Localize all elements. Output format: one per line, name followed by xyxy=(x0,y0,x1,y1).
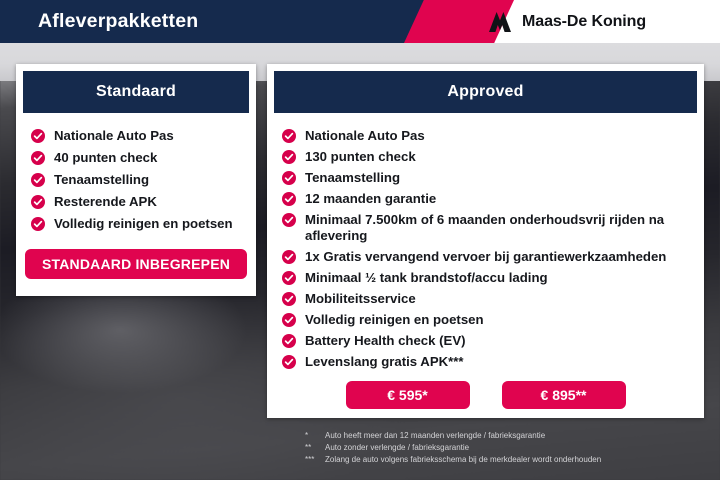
check-circle-icon xyxy=(282,150,296,164)
check-circle-icon xyxy=(31,129,45,143)
page-title: Afleverpakketten xyxy=(38,0,198,43)
maas-de-koning-m-logo-icon xyxy=(487,11,513,33)
list-item: Nationale Auto Pas xyxy=(31,128,246,144)
check-circle-icon xyxy=(31,217,45,231)
price-button-row: € 595* € 895** xyxy=(267,381,704,409)
footnote-marker: ** xyxy=(305,442,319,454)
list-item: Tenaamstelling xyxy=(31,172,246,188)
feature-label: 40 punten check xyxy=(54,150,157,166)
feature-label: Minimaal ½ tank brandstof/accu lading xyxy=(305,270,548,286)
brand-lockup: Maas-De Koning xyxy=(487,0,646,43)
footnote-text: Auto zonder verlengde / fabrieksgarantie xyxy=(325,442,469,454)
feature-list-approved: Nationale Auto Pas 130 punten check Tena… xyxy=(267,113,704,370)
feature-label: Tenaamstelling xyxy=(305,170,400,186)
list-item: Nationale Auto Pas xyxy=(282,128,694,144)
footnote-text: Zolang de auto volgens fabrieksschema bi… xyxy=(325,454,601,466)
feature-label: Battery Health check (EV) xyxy=(305,333,466,349)
check-circle-icon xyxy=(282,271,296,285)
list-item: 12 maanden garantie xyxy=(282,191,694,207)
list-item: 130 punten check xyxy=(282,149,694,165)
list-item: 40 punten check xyxy=(31,150,246,166)
package-card-approved: Approved Nationale Auto Pas 130 punten c… xyxy=(267,64,704,418)
feature-label: Levenslang gratis APK*** xyxy=(305,354,464,370)
list-item: 1x Gratis vervangend vervoer bij garanti… xyxy=(282,249,694,265)
list-item: Tenaamstelling xyxy=(282,170,694,186)
footnote-text: Auto heeft meer dan 12 maanden verlengde… xyxy=(325,430,545,442)
check-circle-icon xyxy=(282,334,296,348)
list-item: Volledig reinigen en poetsen xyxy=(282,312,694,328)
check-circle-icon xyxy=(31,151,45,165)
feature-label: 12 maanden garantie xyxy=(305,191,436,207)
footnote-marker: * xyxy=(305,430,319,442)
feature-label: Mobiliteitsservice xyxy=(305,291,416,307)
check-circle-icon xyxy=(282,192,296,206)
footnote-row: *** Zolang de auto volgens fabrieksschem… xyxy=(305,454,705,466)
feature-label: Volledig reinigen en poetsen xyxy=(54,216,233,232)
check-circle-icon xyxy=(282,250,296,264)
feature-label: Tenaamstelling xyxy=(54,172,149,188)
check-circle-icon xyxy=(282,355,296,369)
feature-label: 1x Gratis vervangend vervoer bij garanti… xyxy=(305,249,666,265)
feature-label: Nationale Auto Pas xyxy=(54,128,174,144)
feature-label: Resterende APK xyxy=(54,194,157,210)
price-button-895[interactable]: € 895** xyxy=(502,381,626,409)
list-item: Levenslang gratis APK*** xyxy=(282,354,694,370)
feature-label: 130 punten check xyxy=(305,149,416,165)
package-title-standaard: Standaard xyxy=(23,71,249,113)
list-item: Mobiliteitsservice xyxy=(282,291,694,307)
feature-list-standaard: Nationale Auto Pas 40 punten check Tenaa… xyxy=(16,113,256,232)
check-circle-icon xyxy=(282,292,296,306)
check-circle-icon xyxy=(282,313,296,327)
list-item: Resterende APK xyxy=(31,194,246,210)
list-item: Minimaal 7.500km of 6 maanden onderhouds… xyxy=(282,212,694,244)
brand-name: Maas-De Koning xyxy=(522,13,646,31)
check-circle-icon xyxy=(31,173,45,187)
footnote-row: * Auto heeft meer dan 12 maanden verleng… xyxy=(305,430,705,442)
page-header: Afleverpakketten Maas-De Koning xyxy=(0,0,720,43)
feature-label: Minimaal 7.500km of 6 maanden onderhouds… xyxy=(305,212,694,244)
list-item: Battery Health check (EV) xyxy=(282,333,694,349)
check-circle-icon xyxy=(31,195,45,209)
price-button-595[interactable]: € 595* xyxy=(346,381,470,409)
package-title-approved: Approved xyxy=(274,71,697,113)
standaard-inbegrepen-button[interactable]: STANDAARD INBEGREPEN xyxy=(25,249,247,279)
list-item: Volledig reinigen en poetsen xyxy=(31,216,246,232)
check-circle-icon xyxy=(282,213,296,227)
footnotes: * Auto heeft meer dan 12 maanden verleng… xyxy=(305,430,705,466)
footnote-row: ** Auto zonder verlengde / fabrieksgaran… xyxy=(305,442,705,454)
list-item: Minimaal ½ tank brandstof/accu lading xyxy=(282,270,694,286)
check-circle-icon xyxy=(282,171,296,185)
feature-label: Volledig reinigen en poetsen xyxy=(305,312,484,328)
check-circle-icon xyxy=(282,129,296,143)
feature-label: Nationale Auto Pas xyxy=(305,128,425,144)
footnote-marker: *** xyxy=(305,454,319,466)
